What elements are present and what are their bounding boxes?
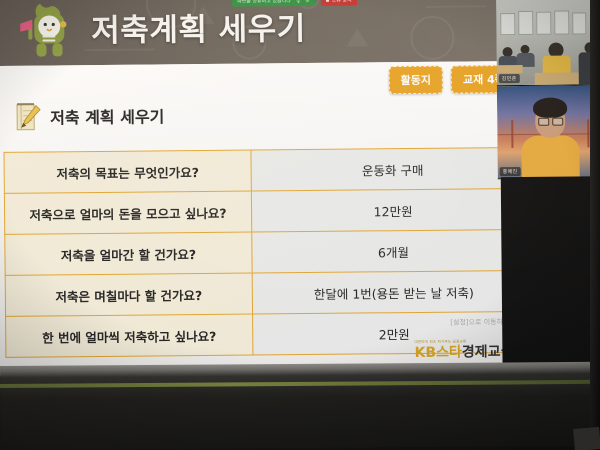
bridge-tower — [511, 120, 513, 148]
question-cell: 저축은 며칠마다 할 건가요? — [5, 273, 252, 316]
logo-brand-primary: KB스타 — [415, 345, 462, 361]
question-cell: 저축의 목표는 무엇인가요? — [4, 150, 251, 193]
share-status: 화면을 공유하고 있습니다 🎙 ⚙ — [232, 0, 315, 7]
decor-circle — [410, 16, 454, 60]
question-cell: 저축으로 얼마의 돈을 모으고 싶나요? — [4, 191, 251, 234]
question-cell: 저축을 얼마간 할 건가요? — [5, 232, 252, 275]
desk-edge — [573, 427, 600, 450]
person-shirt — [521, 135, 579, 179]
wall-poster — [536, 12, 551, 35]
video-tile-speaker[interactable]: 홍예진 — [497, 85, 600, 179]
stop-share-button[interactable]: 공유 중지 — [321, 0, 357, 6]
savings-plan-table: 저축의 목표는 무엇인가요? 운동화 구매 저축으로 얼마의 돈을 모으고 싶나… — [3, 147, 536, 358]
desk — [497, 65, 523, 73]
wall-poster — [554, 10, 569, 34]
participant-name: 홍예진 — [500, 167, 521, 176]
stop-square-icon — [326, 0, 329, 2]
participant-name: 김민준 — [499, 74, 520, 83]
decor-line — [426, 5, 486, 8]
microphone-icon[interactable]: 🎙 — [295, 0, 301, 4]
tag-worksheet[interactable]: 활동지 — [388, 66, 443, 95]
kb-dino-mascot-icon — [18, 0, 81, 62]
desk — [535, 72, 581, 84]
answer-cell: 6개월 — [252, 229, 535, 273]
section-subtitle: 저축 계획 세우기 — [50, 103, 164, 128]
video-panel-empty-area — [501, 176, 600, 371]
answer-cell: 한달에 1번(용돈 받는 날 저축) — [252, 270, 535, 314]
table-row: 저축으로 얼마의 돈을 모으고 싶나요? 12만원 — [4, 188, 534, 234]
video-panel: 김민준 홍예진 — [496, 0, 600, 371]
wall-poster — [572, 12, 586, 34]
table-row: 저축은 며칠마다 할 건가요? 한달에 1번(용돈 받는 날 저축) — [5, 270, 535, 316]
screen-area: 저축계획 세우기 화면을 공유하고 있습니다 🎙 ⚙ 공유 중지 활동지 교재 … — [0, 0, 600, 376]
answer-cell: 운동화 구매 — [251, 147, 534, 191]
stop-share-label: 공유 중지 — [332, 0, 352, 4]
table-row: 저축의 목표는 무엇인가요? 운동화 구매 — [4, 147, 534, 193]
answer-cell: 12만원 — [251, 188, 534, 232]
eyeglasses-right — [552, 118, 563, 126]
monitor-bezel-right — [590, 0, 600, 450]
table-body: 저축의 목표는 무엇인가요? 운동화 구매 저축으로 얼마의 돈을 모으고 싶나… — [4, 147, 536, 357]
wall-poster — [518, 11, 533, 35]
photographed-monitor: 저축계획 세우기 화면을 공유하고 있습니다 🎙 ⚙ 공유 중지 활동지 교재 … — [0, 0, 600, 450]
monitor-bezel-bottom — [0, 362, 600, 450]
video-tile-classroom[interactable]: 김민준 — [496, 0, 600, 86]
speaker-view — [497, 85, 600, 178]
question-cell: 한 번에 얼마씩 저축하고 싶나요? — [6, 314, 253, 357]
gear-icon[interactable]: ⚙ — [305, 0, 310, 4]
table-row: 저축을 얼마간 할 건가요? 6개월 — [5, 229, 535, 275]
share-status-label: 화면을 공유하고 있습니다 — [237, 0, 291, 5]
page-title: 저축계획 세우기 — [91, 3, 306, 50]
notepad-pencil-icon — [15, 102, 41, 132]
person-hair — [533, 98, 567, 118]
wall-poster — [500, 13, 515, 35]
classroom-view — [496, 0, 600, 85]
bezel-green-edge — [0, 380, 600, 388]
subtitle-row: 저축 계획 세우기 — [15, 100, 164, 131]
eyeglasses-left — [538, 118, 549, 126]
decor-triangle — [346, 28, 368, 46]
